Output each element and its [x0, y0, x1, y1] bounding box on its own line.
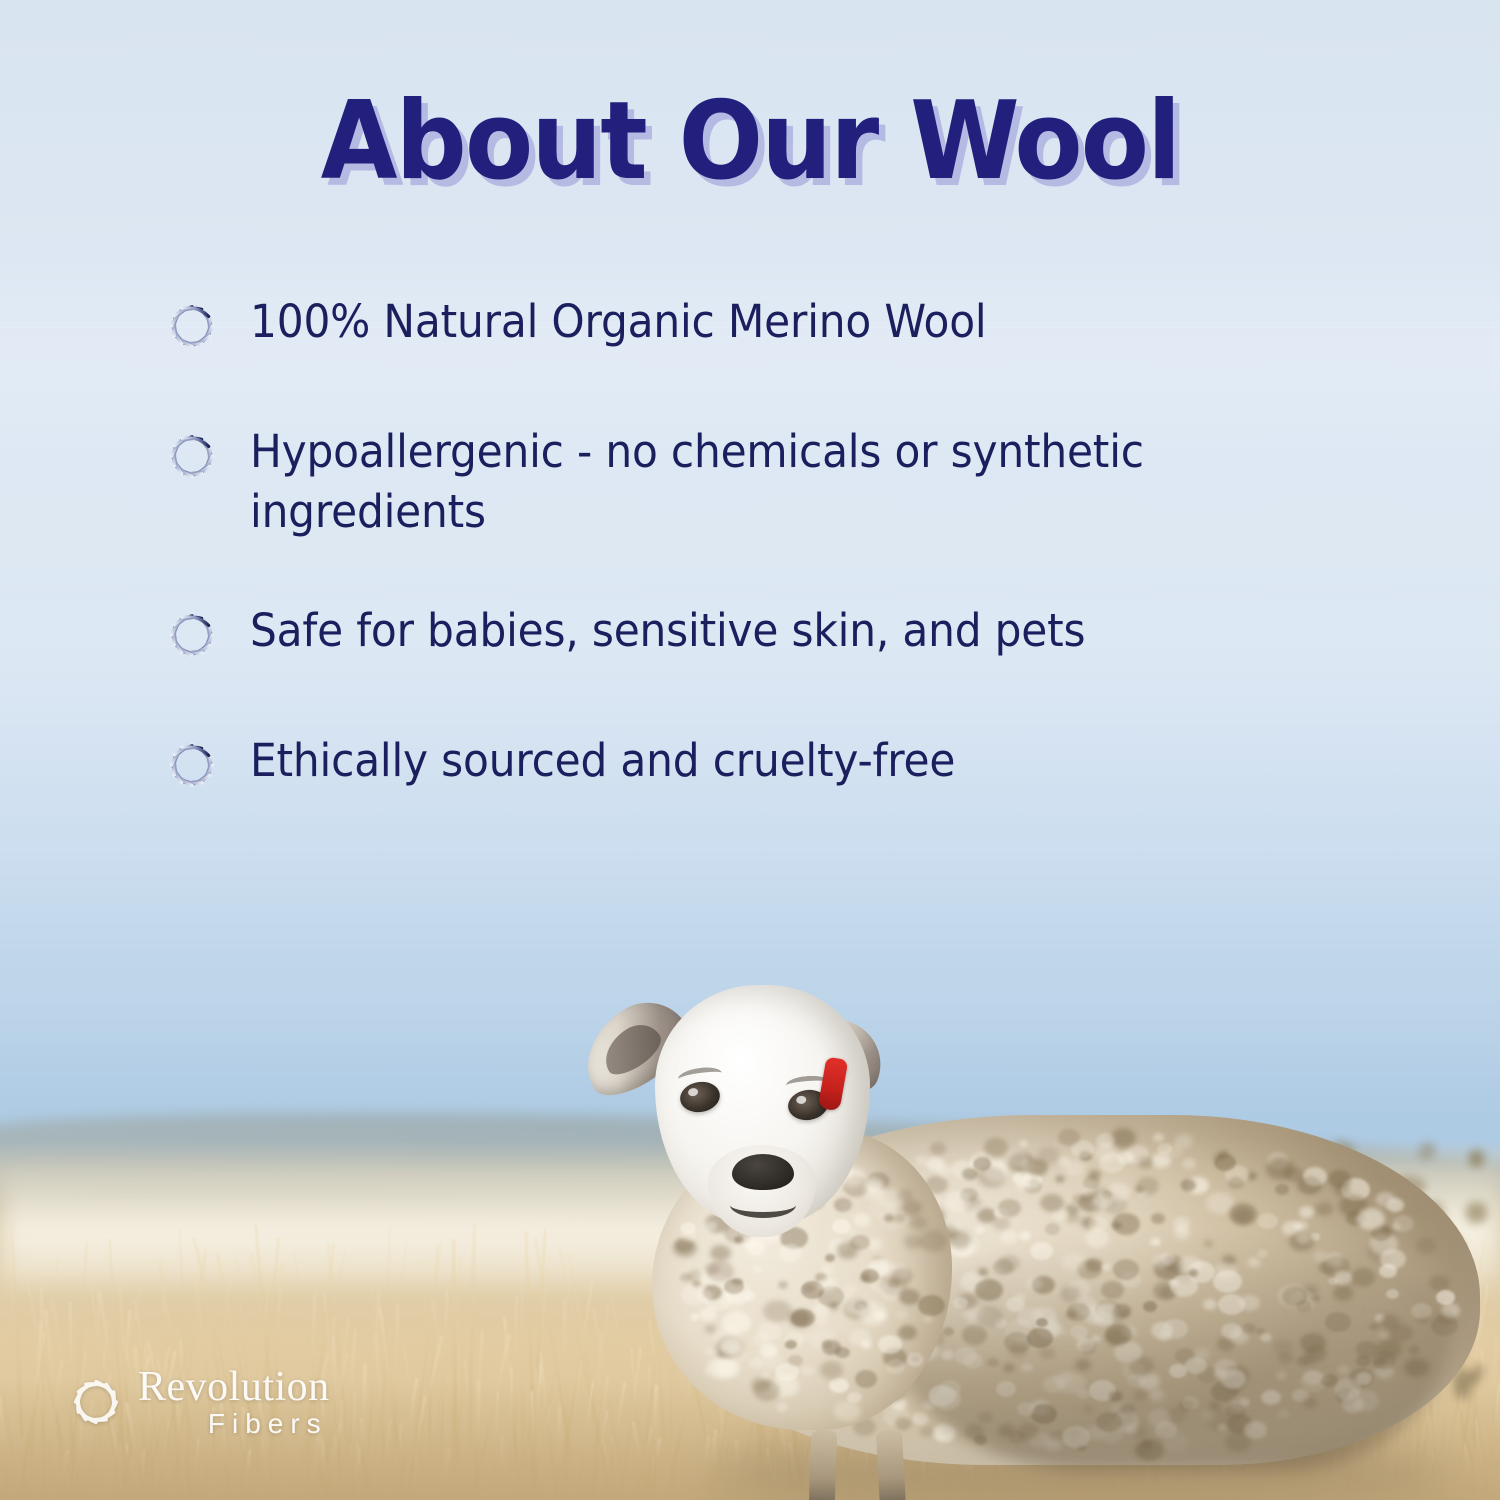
spiral-swirl-icon [160, 294, 224, 358]
page-title: About Our Wool [60, 88, 1440, 196]
sheep-body-shading [890, 1240, 1450, 1470]
logo-line-1: Revolution [138, 1366, 330, 1408]
spiral-swirl-icon [160, 603, 224, 667]
sheep-nose [732, 1154, 794, 1190]
list-item-label: Ethically sourced and cruelty-free [250, 731, 955, 791]
eye-highlight [796, 1095, 807, 1104]
spiral-swirl-icon [160, 733, 224, 797]
list-item: Hypoallergenic - no chemicals or synthet… [160, 422, 1340, 543]
list-item-label: Hypoallergenic - no chemicals or synthet… [250, 422, 1275, 543]
list-item: Ethically sourced and cruelty-free [160, 731, 1340, 797]
brand-logo: Revolution Fibers [64, 1366, 330, 1438]
list-item-label: 100% Natural Organic Merino Wool [250, 292, 986, 352]
promo-graphic: About Our Wool [0, 0, 1500, 1500]
list-item: 100% Natural Organic Merino Wool [160, 292, 1340, 358]
list-item: Safe for babies, sensitive skin, and pet… [160, 601, 1340, 667]
sheep-leg [876, 1429, 906, 1500]
feature-list: 100% Natural Organic Merino Wool [160, 292, 1340, 861]
list-item-label: Safe for babies, sensitive skin, and pet… [250, 601, 1085, 661]
spiral-swirl-icon [160, 424, 224, 488]
sheep [560, 940, 1500, 1500]
logo-wordmark: Revolution Fibers [138, 1366, 330, 1438]
eye-highlight [687, 1087, 698, 1097]
spiral-swirl-icon [64, 1370, 128, 1434]
sheep-leg [809, 1430, 838, 1500]
logo-line-2: Fibers [138, 1410, 330, 1438]
sheep-mouth [730, 1192, 796, 1218]
